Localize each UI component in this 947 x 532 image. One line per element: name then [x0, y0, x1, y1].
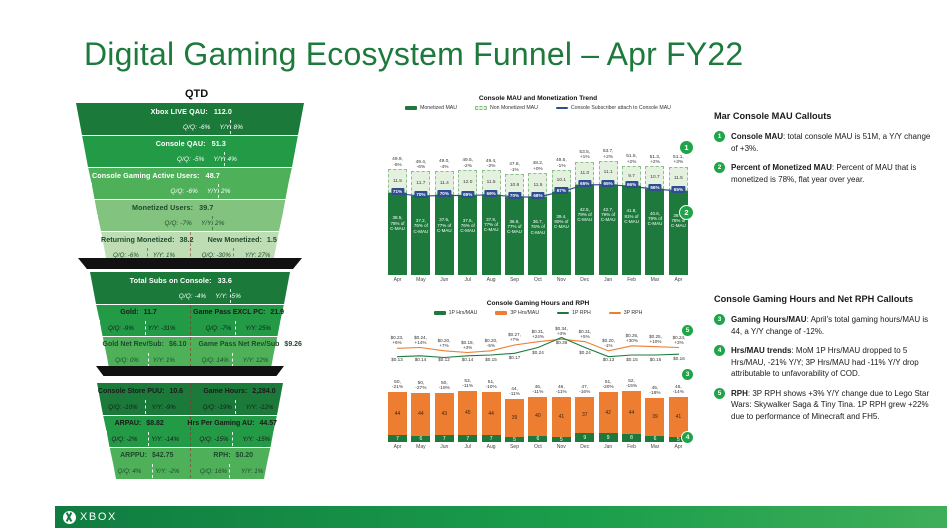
funnel-segment: [98, 215, 283, 231]
funnel-split-cell: Game Hours: 2,284.0: [190, 383, 283, 399]
sub-attach-label: 69%: [461, 191, 474, 198]
legend-label-1p-rph: 1P RPH: [572, 310, 591, 316]
funnel-shape: [113, 463, 267, 479]
legend-swatch-sub-attach: [556, 107, 568, 109]
hours-total-label: 51, -10%: [486, 380, 497, 391]
funnel-center-dash: [190, 400, 191, 414]
hours-total-label: 46, -11%: [533, 385, 544, 396]
funnel-shape: [110, 447, 271, 463]
funnel-split-cell: Q/Q: 14% Y/Y: 12%: [190, 352, 274, 368]
hours-segment-3p: 39: [505, 399, 524, 437]
funnel-segment: [93, 288, 287, 304]
hours-segment-1p: 6: [645, 436, 664, 442]
funnel-shape: [82, 135, 298, 151]
funnel-center-dash: [190, 416, 191, 430]
funnel-metric-row: Total Subs on Console:33.6: [90, 272, 290, 288]
funnel-metric-value: 39.7: [199, 203, 213, 212]
rph-3p-label: $0.24, +14%: [414, 335, 427, 345]
callout-term: Gaming Hours/MAU: [731, 315, 807, 324]
funnel-yy: Y/Y: 2%: [207, 188, 231, 195]
funnel-divider-2: [96, 366, 284, 376]
legend-label-non-monetized: Non Monetized MAU: [490, 105, 538, 111]
rph-3p-label: $0.26, +30%: [626, 333, 639, 343]
bar-total-label: 51.3, +2%: [650, 155, 661, 166]
footer-brand-label: XBOX: [80, 511, 117, 523]
funnel-qq: Q/Q: -6%: [113, 252, 139, 259]
hours-segment-1p: 6: [411, 436, 430, 442]
funnel-metric-label: Game Pass EXCL PC:: [193, 309, 265, 316]
funnel-split-row: Q/Q: 0% Y/Y: 1%Q/Q: 14% Y/Y: 12%: [106, 352, 274, 368]
funnel-qq: Q/Q: 16%: [200, 468, 227, 475]
funnel-shape: [79, 119, 301, 135]
x-axis-label: Sep: [505, 444, 524, 450]
hours-bar-column: 53, -11%457: [458, 364, 477, 442]
hours-segment-3p: 41: [552, 397, 571, 437]
hours-bar-column: 52, -15%448: [622, 364, 641, 442]
callout-heading-mau: Mar Console MAU Callouts: [714, 110, 938, 123]
hours-bar-column: 50, -27%446: [411, 364, 430, 442]
hours-total-label: 53, -11%: [462, 379, 473, 390]
funnel-metric-label: ARPPU:: [120, 452, 147, 459]
funnel-yy: Y/Y: -14%: [151, 436, 179, 443]
footer-bar: [55, 506, 947, 528]
sub-attach-label: 66%: [648, 184, 661, 191]
funnel-metric-value: $8.82: [146, 420, 164, 427]
sub-attach-label: 66%: [625, 181, 638, 188]
funnel-yy: Y/Y: 1%: [241, 468, 263, 475]
rph-3p-label: $0.20, -1%: [602, 338, 615, 348]
hours-bar-column: 50, -21%447: [388, 364, 407, 442]
callout-text: Console MAU: total console MAU is 51M, a…: [731, 131, 938, 154]
funnel-metric-value: $9.26: [284, 341, 302, 348]
funnel-segment: [88, 167, 292, 183]
funnel-metric-row: Console Gaming Active Users:48.7: [88, 167, 292, 183]
funnel-metric-value: $0.20: [236, 452, 254, 459]
funnel-yy: Y/Y: 8%: [219, 124, 243, 131]
funnel-text-layer: Q/Q: -5%Y/Y: 4%: [85, 151, 295, 167]
funnel-center-dash: [190, 305, 191, 319]
funnel-qq: Q/Q: -7%: [206, 325, 232, 332]
funnel-divider-1: [78, 258, 302, 269]
hours-segment-1p: 7: [435, 435, 454, 442]
funnel-metric-label: Xbox LIVE QAU:: [151, 107, 208, 116]
hours-bar-column: 46, -11%406: [528, 364, 547, 442]
slide-root: Digital Gaming Ecosystem Funnel – Apr FY…: [0, 0, 947, 532]
funnel-metric-value: $6.10: [169, 341, 187, 348]
funnel-split-cell: Gold Net Rev/Sub: $6.10: [103, 336, 193, 352]
funnel-split-cell: Q/Q: -10% Y/Y: -9%: [100, 399, 190, 415]
x-axis-label: Dec: [575, 277, 594, 283]
funnel-text-layer: Monetized Users:39.7: [95, 199, 286, 215]
hours-segment-1p: 8: [622, 434, 641, 442]
legend-item-3p-rph: 3P RPH: [609, 310, 643, 316]
legend-label-sub-attach: Console Subscriber attach to Console MAU: [571, 105, 671, 111]
bar-total-label: 49.9, -5%: [392, 157, 403, 168]
x-axis-label: Jan: [599, 277, 618, 283]
funnel-metric-value: 44.57: [259, 420, 277, 427]
funnel-metric-label: ARPAU:: [115, 420, 142, 427]
funnel-dash: [232, 353, 233, 367]
funnel-segment: [113, 463, 267, 479]
funnel-metric-value: 11.7: [144, 309, 157, 316]
hours-segment-1p: 9: [599, 433, 618, 442]
sub-attach-label: 70%: [438, 190, 451, 197]
funnel-text-layer: Total Subs on Console:33.6: [90, 272, 290, 288]
x-axis-label: Nov: [552, 444, 571, 450]
callout-badge: 4: [714, 345, 725, 356]
callout-text: RPH: 3P RPH shows +3% Y/Y change due to …: [731, 388, 940, 423]
hours-segment-3p: 45: [458, 391, 477, 435]
bar-total-label: 49.5, -2%: [462, 158, 473, 169]
bar-total-label: 53.7, +2%: [603, 149, 614, 160]
bar-segment-monetized: 42.7, 79% of C-MAU: [599, 185, 618, 275]
funnel-segment: [100, 399, 280, 415]
funnel-rule: [103, 336, 278, 337]
chart-console-hours-rph: Console Gaming Hours and RPH 1P Hrs/MAU …: [388, 300, 688, 450]
callout-term: RPH: [731, 389, 748, 398]
x-axis-label: Apr: [388, 277, 407, 283]
sub-attach-label: 71%: [391, 188, 404, 195]
rph-3p-label: $0.31, +5%: [579, 329, 592, 339]
sub-attach-label: 69%: [485, 190, 498, 197]
legend-item-1p-rph: 1P RPH: [557, 310, 591, 316]
sub-attach-label: 65%: [578, 180, 591, 187]
hours-segment-3p: 44: [388, 392, 407, 435]
funnel-text-layer: Q/Q: -6%Y/Y: 2%: [92, 183, 289, 199]
callout-badge: 2: [714, 162, 725, 173]
funnel-text-layer: Q/Q: -9% Y/Y: -31%Q/Q: -7% Y/Y: 25%: [100, 320, 281, 336]
funnel-rule: [88, 167, 292, 168]
x-axis-label: Oct: [528, 444, 547, 450]
bar-column: 51.3, +2%10.740.6, 79% of C-MAU66%: [645, 115, 664, 275]
bar-column: 49.5, -1%10.139.4, 80% of C-MAU67%: [552, 115, 571, 275]
rph-1p-label: $0.24: [532, 350, 544, 355]
hours-bar-column: 50, -18%437: [435, 364, 454, 442]
sub-attach-label: 70%: [508, 192, 521, 199]
chart-badge-3: 3: [682, 369, 693, 380]
funnel-center-dash: [190, 464, 191, 478]
bar-column: 51.5, +2%9.741.8, 81% of C-MAU66%: [622, 115, 641, 275]
callout-text: Hrs/MAU trends: MoM 1P Hrs/MAU dropped t…: [731, 345, 940, 380]
funnel-text-layer: Console Store PUU: 10.6Game Hours: 2,284…: [97, 383, 283, 399]
funnel-split-cell: Returning Monetized: 38.2: [101, 231, 199, 247]
funnel-split-cell: Game Pass EXCL PC: 21.9: [187, 304, 284, 320]
callout-badge: 3: [714, 314, 725, 325]
funnel-split-cell: Q/Q: 0% Y/Y: 1%: [106, 352, 190, 368]
rph-1p-label: $0.13: [603, 357, 615, 362]
chart1-title: Console MAU and Monetization Trend: [388, 95, 688, 102]
bar-segment-monetized: 41.8, 81% of C-MAU: [622, 186, 641, 275]
funnel-shape: [100, 399, 280, 415]
funnel-rule: [103, 415, 277, 416]
legend-label-3p-hrs: 3P Hrs/MAU: [510, 310, 539, 316]
bar-segment-monetized: 42.5, 79% of C-MAU: [575, 185, 594, 275]
bar-column: 49.4, -2%11.537.9, 77% of C-MAU69%: [482, 115, 501, 275]
funnel-split-cell: Q/Q: -2% Y/Y: -14%: [107, 431, 191, 447]
rph-3p-label: $0.25, +10%: [649, 334, 662, 344]
bar-segment-monetized: 37.5, 76% of C-MAU: [458, 196, 477, 275]
funnel-rule: [101, 231, 279, 232]
funnel-yy: Y/Y: 25%: [245, 325, 271, 332]
bar-segment-monetized: 36.7, 76% of C-MAU: [528, 197, 547, 275]
funnel-split-row: ARPAU: $8.82Hrs Per Gaming AU: 44.57: [103, 415, 277, 431]
funnel-shape: [92, 183, 289, 199]
funnel-dash: [232, 432, 233, 446]
x-axis-label: May: [411, 444, 430, 450]
x-axis-label: Mar: [645, 444, 664, 450]
hours-bar-column: 44, -11%395: [505, 364, 524, 442]
x-axis-label: Feb: [622, 444, 641, 450]
funnel-metric-row: Console QAU:51.3: [82, 135, 298, 151]
bar-total-label: 47.8, -1%: [509, 162, 520, 173]
hours-total-label: 45, -18%: [649, 386, 660, 397]
funnel-split-cell: Q/Q: -7% Y/Y: 25%: [190, 320, 281, 336]
funnel-center-dash: [190, 337, 191, 351]
funnel-yy: Y/Y: -15%: [243, 436, 271, 443]
callout-item: 2Percent of Monetized MAU: Percent of MA…: [714, 162, 938, 185]
funnel-split-cell: Q/Q: 16% Y/Y: 1%: [190, 463, 267, 479]
funnel-segment: [106, 352, 274, 368]
callout-item: 3Gaming Hours/MAU: April's total gaming …: [714, 314, 940, 337]
funnel-metric-value: 21.9: [270, 309, 284, 316]
funnel-split-row: Q/Q: -2% Y/Y: -14%Q/Q: -15% Y/Y: -15%: [107, 431, 274, 447]
chart1-legend: Monetized MAU Non Monetized MAU Console …: [388, 105, 688, 111]
hours-segment-1p: 5: [505, 437, 524, 442]
funnel-dash: [152, 464, 153, 478]
funnel-segment: [82, 135, 298, 151]
rph-1p-label: $0.14: [415, 357, 427, 362]
x-axis-label: Jun: [435, 277, 454, 283]
funnel-divider-dash: [230, 120, 231, 134]
callout-text: Percent of Monetized MAU: Percent of MAU…: [731, 162, 938, 185]
hours-bar-column: 51, -20%429: [599, 364, 618, 442]
sub-attach-label: 68%: [531, 192, 544, 199]
rph-3p-label: $0.20, +7%: [438, 338, 451, 348]
hours-total-label: 46, -14%: [673, 385, 684, 396]
hours-segment-3p: 44: [411, 393, 430, 436]
legend-label-1p-hrs: 1P Hrs/MAU: [449, 310, 478, 316]
funnel-dash: [148, 353, 149, 367]
hours-total-label: 47, -16%: [579, 385, 590, 396]
funnel-split-cell: Q/Q: -9% Y/Y: -31%: [100, 320, 191, 336]
rph-1p-label: $0.15: [626, 357, 638, 362]
funnel-delta-row: Q/Q: -5%Y/Y: 4%: [85, 151, 295, 167]
funnel-yy: Y/Y: 1%: [153, 252, 175, 259]
hours-total-label: 50, -27%: [415, 381, 426, 392]
bar-total-label: 51.5, +2%: [626, 154, 637, 165]
bar-column: 49.4, -6%11.737.2, 76% of C-MAU70%: [411, 115, 430, 275]
bar-segment-monetized: 36.9, 77% of C-MAU: [505, 197, 524, 275]
x-axis-label: Oct: [528, 277, 547, 283]
bar-total-label: 49.5, -1%: [556, 158, 567, 169]
sub-attach-label: 65%: [602, 180, 615, 187]
callout-term: Percent of Monetized MAU: [731, 163, 832, 172]
funnel-segment: [92, 183, 289, 199]
chart-badge-1: 1: [680, 141, 693, 154]
x-axis-label: Apr: [669, 444, 688, 450]
callout-text: Gaming Hours/MAU: April's total gaming h…: [731, 314, 940, 337]
funnel-text-layer: Q/Q: -10% Y/Y: -9%Q/Q: -19% Y/Y: -12%: [100, 399, 280, 415]
funnel-split-cell: ARPPU: $42.75: [110, 447, 191, 463]
x-axis-label: Nov: [552, 277, 571, 283]
funnel-yy: Y/Y: 12%: [243, 357, 269, 364]
funnel-yy: Y/Y: 4%: [213, 156, 237, 163]
sub-attach-label: 65%: [672, 186, 685, 193]
chart-badge-5: 5: [682, 325, 693, 336]
funnel-yy: Y/Y: -9%: [152, 404, 176, 411]
funnel-rule: [110, 447, 271, 448]
bar-segment-monetized: 38.5, 78% of C-MAU: [388, 193, 407, 275]
sub-attach-label: 67%: [555, 187, 568, 194]
hours-total-label: 46, -11%: [556, 385, 567, 396]
funnel-yy: Y/Y: -2%: [155, 468, 179, 475]
funnel-center-dash: [190, 232, 191, 246]
funnel-segment: [97, 383, 283, 399]
funnel-qq: Q/Q: -2%: [112, 436, 138, 443]
rph-3p-label: $0.23, +6%: [391, 335, 404, 345]
hours-segment-3p: 37: [575, 397, 594, 433]
funnel-dash: [235, 321, 236, 335]
legend-item-3p-hrs: 3P Hrs/MAU: [495, 310, 539, 316]
rph-1p-label: $0.15: [485, 357, 497, 362]
funnel-segment: [103, 336, 278, 352]
legend-item-non-monetized: Non Monetized MAU: [475, 105, 538, 111]
bar-column: 48.2, +0%11.536.7, 76% of C-MAU68%: [528, 115, 547, 275]
funnel-dash: [235, 400, 236, 414]
funnel-shape: [85, 151, 295, 167]
hours-total-label: 51, -20%: [603, 380, 614, 391]
funnel-metric-value: 2,284.0: [252, 388, 275, 395]
bar-column: 49.0, -4%11.437.6, 77% of C-MAU70%: [435, 115, 454, 275]
x-axis-label: Mar: [645, 277, 664, 283]
hours-total-label: 44, -11%: [509, 387, 520, 398]
funnel-yy: Y/Y: -5%: [215, 293, 241, 300]
funnel-rule: [82, 135, 298, 136]
funnel-shape: [93, 288, 287, 304]
callouts-mau: Mar Console MAU Callouts 1Console MAU: t…: [714, 110, 938, 185]
funnel-segment: [85, 151, 295, 167]
funnel-shape: [98, 215, 283, 231]
x-axis-label: Sep: [505, 277, 524, 283]
legend-item-sub-attach: Console Subscriber attach to Console MAU: [556, 105, 671, 111]
funnel-metric-label: Returning Monetized:: [101, 235, 174, 244]
funnel-delta-row: Q/Q: -7%Y/Y: 2%: [98, 215, 283, 231]
hours-segment-1p: 9: [575, 433, 594, 442]
funnel-metric-row: Xbox LIVE QAU:112.0: [76, 103, 304, 119]
rph-3p-label: $0.27, +7%: [508, 332, 521, 342]
bar-segment-monetized: 40.6, 79% of C-MAU: [645, 189, 664, 275]
legend-item-1p-hrs: 1P Hrs/MAU: [434, 310, 478, 316]
x-axis-label: Jun: [435, 444, 454, 450]
funnel-split-row: ARPPU: $42.75RPH: $0.20: [110, 447, 271, 463]
callout-list-mau: 1Console MAU: total console MAU is 51M, …: [714, 131, 938, 185]
funnel-text-layer: Console Gaming Active Users:48.7: [88, 167, 292, 183]
funnel-heading: QTD: [185, 88, 208, 100]
legend-label-monetized: Monetized MAU: [420, 105, 457, 111]
funnel-delta-row: Q/Q: -6%Y/Y: 2%: [92, 183, 289, 199]
hours-total-label: 52, -15%: [626, 379, 637, 390]
funnel-split-cell: ARPAU: $8.82: [103, 415, 181, 431]
funnel-rule: [96, 304, 284, 305]
bar-total-label: 49.4, -6%: [416, 160, 427, 171]
funnel-metric-value: 112.0: [214, 107, 232, 116]
funnel-shape: [95, 199, 286, 215]
funnel-split-row: Gold: 11.7Game Pass EXCL PC: 21.9: [96, 304, 284, 320]
funnel-shape: [90, 272, 290, 288]
callout-heading-hours: Console Gaming Hours and Net RPH Callout…: [714, 293, 940, 306]
funnel-metric-label: Gold:: [120, 309, 138, 316]
funnel-metric-label: Gold Net Rev/Sub:: [103, 341, 164, 348]
funnel-yy: Y/Y: 1%: [153, 357, 175, 364]
funnel-qq: Q/Q: -6%: [171, 188, 198, 195]
bar-total-label: 49.4, -2%: [486, 159, 497, 170]
bar-column: 49.9, -5%11.538.5, 78% of C-MAU71%: [388, 115, 407, 275]
funnel-text-layer: Returning Monetized: 38.2New Monetized: …: [101, 231, 279, 247]
funnel-divider-dash: [224, 152, 225, 166]
funnel-center-dash: [190, 321, 191, 335]
hours-bar-column: 46, -11%415: [552, 364, 571, 442]
funnel-center-dash: [190, 432, 191, 446]
bar-segment-monetized: 37.2, 76% of C-MAU: [411, 196, 430, 275]
chart-badge-2: 2: [680, 206, 693, 219]
bar-column: 51.1, +3%11.539.7, 78% of C-MAU65%: [669, 115, 688, 275]
funnel-metric-value: 38.2: [179, 235, 193, 244]
legend-swatch-3p-hrs: [495, 311, 507, 315]
funnel-qq: Q/Q: -6%: [183, 124, 210, 131]
funnel-qq: Q/Q: -9%: [108, 325, 134, 332]
funnel-text-layer: Q/Q: -7%Y/Y: 2%: [98, 215, 283, 231]
funnel-center-dash: [190, 353, 191, 367]
callout-term: Hrs/MAU trends: [731, 346, 791, 355]
x-axis-label: Apr: [669, 277, 688, 283]
rph-3p-label: $0.31, +24%: [532, 329, 545, 339]
funnel-text-layer: Q/Q: -2% Y/Y: -14%Q/Q: -15% Y/Y: -15%: [107, 431, 274, 447]
funnel-segment: [95, 199, 286, 215]
legend-swatch-3p-rph: [609, 312, 621, 314]
funnel-dash: [145, 321, 146, 335]
funnel-text-layer: Gold: 11.7Game Pass EXCL PC: 21.9: [96, 304, 284, 320]
funnel-divider-dash: [212, 216, 213, 230]
funnel-shape: [76, 103, 304, 119]
rph-1p-label: $0.15: [650, 357, 662, 362]
funnel-segment: [101, 231, 279, 247]
funnel-qq: Q/Q: -7%: [165, 220, 192, 227]
funnel-split-row: Gold Net Rev/Sub: $6.10Game Pass Net Rev…: [103, 336, 278, 352]
legend-swatch-monetized: [405, 106, 417, 110]
hours-bar-column: 51, -10%447: [482, 364, 501, 442]
x-axis-label: Jan: [599, 444, 618, 450]
bar-column: 47.8, -1%10.836.9, 77% of C-MAU70%: [505, 115, 524, 275]
funnel-shape: [107, 431, 274, 447]
hours-segment-3p: 42: [599, 392, 618, 433]
funnel-metric-value: $42.75: [152, 452, 173, 459]
funnel-dash: [145, 400, 146, 414]
chart2-title: Console Gaming Hours and RPH: [388, 300, 688, 307]
rph-1p-label: $0.24: [579, 350, 591, 355]
funnel-text-layer: Gold Net Rev/Sub: $6.10Game Pass Net Rev…: [103, 336, 278, 352]
legend-label-3p-rph: 3P RPH: [624, 310, 643, 316]
funnel-qq: Q/Q: 0%: [115, 357, 139, 364]
callouts-hours: Console Gaming Hours and Net RPH Callout…: [714, 293, 940, 422]
funnel-metric-label: Hrs Per Gaming AU:: [187, 420, 254, 427]
funnel-metric-label: Console Gaming Active Users:: [92, 171, 200, 180]
funnel-divider-dash: [230, 289, 231, 303]
funnel-center-dash: [190, 448, 191, 462]
bar-total-label: 48.2, +0%: [533, 161, 544, 172]
footer-logo: XBOX: [63, 510, 117, 524]
funnel-metric-label: Console QAU:: [156, 139, 206, 148]
rph-3p-label: $0.24, +3%: [673, 335, 686, 345]
